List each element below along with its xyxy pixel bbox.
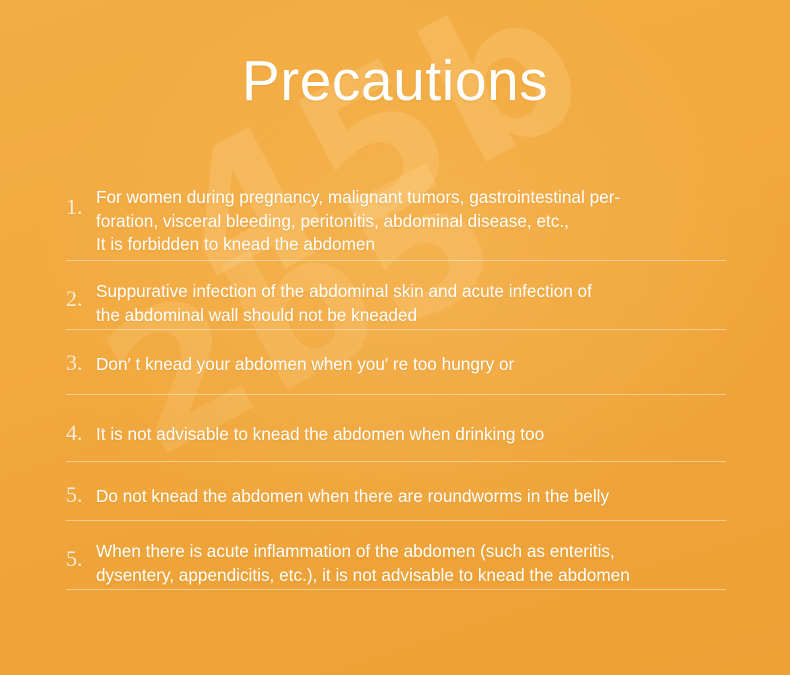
- list-item-number: 4.: [66, 395, 96, 444]
- list-item: 2. Suppurative infection of the abdomina…: [66, 261, 734, 319]
- list-item: 5. Do not knead the abdomen when there a…: [66, 462, 734, 520]
- list-item-text: It is not advisable to knead the abdomen…: [96, 395, 734, 447]
- list-item-number: 3.: [66, 330, 96, 374]
- list-item: 5. When there is acute inflammation of t…: [66, 521, 734, 579]
- list-divider: [66, 589, 726, 590]
- list-item-text: Do not knead the abdomen when there are …: [96, 462, 734, 509]
- list-item-text: Don′ t knead your abdomen when you′ re t…: [96, 330, 734, 377]
- list-item-number: 2.: [66, 261, 96, 310]
- list-item-text: When there is acute inflammation of the …: [96, 521, 734, 587]
- list-item: 1. For women during pregnancy, malignant…: [66, 176, 734, 246]
- list-item-number: 5.: [66, 521, 96, 570]
- list-item: 4. It is not advisable to knead the abdo…: [66, 395, 734, 455]
- list-item-text: Suppurative infection of the abdominal s…: [96, 261, 734, 327]
- page-title: Precautions: [0, 52, 790, 112]
- list-item-text: For women during pregnancy, malignant tu…: [96, 176, 734, 257]
- list-item-number: 5.: [66, 462, 96, 506]
- list-item-number: 1.: [66, 176, 96, 218]
- list-item: 3. Don′ t knead your abdomen when you′ r…: [66, 330, 734, 388]
- precautions-poster: 45b 2b5 Precautions 1. For women during …: [0, 0, 790, 675]
- precautions-list: 1. For women during pregnancy, malignant…: [66, 176, 734, 590]
